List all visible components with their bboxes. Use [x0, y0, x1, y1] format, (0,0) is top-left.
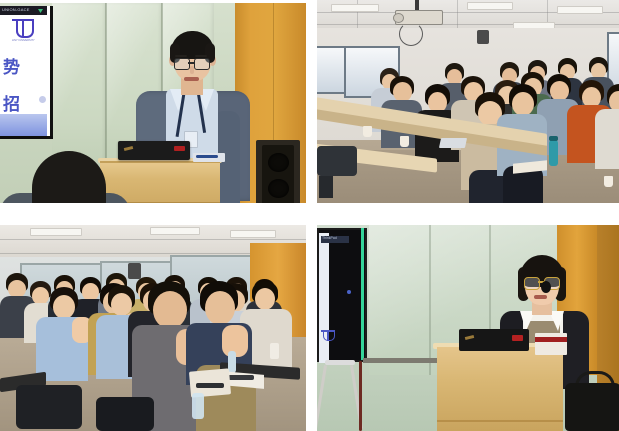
screen-indicator-dot [347, 290, 351, 294]
paper-cup [400, 136, 409, 147]
chair-base [319, 176, 333, 198]
handbag [565, 383, 619, 431]
power-cable [359, 361, 362, 431]
laptop-thinkpad [118, 141, 190, 160]
loudspeaker-driver-top [268, 153, 289, 172]
glasses-lens-right [194, 58, 210, 70]
screen-title-bar: UNION-GACE [0, 6, 47, 15]
pen [196, 155, 218, 158]
scene-top-right [317, 0, 619, 203]
paper-cup [604, 176, 613, 187]
photo-bottom-left [0, 225, 306, 431]
booklet-band [535, 337, 567, 342]
slide-text-line-2: 招 [3, 90, 20, 115]
screen-stand [325, 360, 355, 365]
screen-base [0, 136, 53, 139]
slide-text-line-1: 势 [3, 53, 20, 78]
laptop-logo [174, 146, 185, 151]
university-logo [321, 330, 335, 344]
water-bottle [549, 140, 558, 166]
logo-caption: LINYI UNIVERSITY [12, 39, 34, 42]
paper-cup [270, 343, 279, 359]
audience-group-front [317, 0, 619, 203]
chevron-down-icon [38, 9, 43, 13]
display-screen: ThinkPad [317, 228, 367, 362]
laptop-sticker [465, 335, 474, 340]
loudspeaker-driver-bottom [268, 179, 289, 198]
water-bottle [192, 393, 204, 419]
lectern-base [437, 420, 563, 422]
laptop-sticker [124, 146, 133, 151]
paper-cup [363, 126, 372, 137]
screen-header-text: UNION-GACE [2, 7, 30, 12]
microphone-head [541, 281, 551, 293]
office-chair [96, 397, 154, 431]
slide-footer-band [0, 114, 47, 136]
eyebrow-right [195, 55, 207, 57]
laptop-logo [512, 335, 523, 341]
laptop-thinkpad [459, 329, 529, 351]
scene-bottom-right: ThinkPad [317, 225, 619, 431]
panel-seam [429, 225, 431, 375]
mobile-phone [196, 383, 224, 388]
bottle-cap [549, 136, 558, 141]
laptop-silver [439, 138, 467, 148]
mouth [184, 77, 199, 81]
photo-top-left: UNION-GACE LINYI UNIVERSITY 势 招 [0, 3, 306, 203]
scene-bottom-left [0, 225, 306, 431]
photo-top-right [317, 0, 619, 203]
screen-accent-edge [361, 228, 364, 360]
photo-collage: UNION-GACE LINYI UNIVERSITY 势 招 [0, 0, 619, 431]
photo-bottom-right: ThinkPad [317, 225, 619, 431]
slide-bullet-dot [39, 96, 46, 103]
office-chair [317, 146, 357, 176]
presentation-screen: UNION-GACE LINYI UNIVERSITY 势 招 [0, 6, 53, 139]
mobile-phone [228, 375, 254, 380]
screen-header-text: ThinkPad [322, 236, 337, 240]
scene-top-left: UNION-GACE LINYI UNIVERSITY 势 招 [0, 3, 306, 203]
eyebrow-left [175, 55, 187, 57]
university-logo: LINYI UNIVERSITY [12, 19, 34, 39]
lectern [437, 347, 563, 431]
glasses-lens-left [174, 58, 190, 70]
audience-group-front [0, 225, 306, 431]
mouth [534, 295, 547, 299]
nose [190, 66, 194, 74]
water-bottle [228, 351, 236, 373]
glasses-bridge [188, 62, 194, 64]
office-chair [16, 385, 82, 429]
glasses-lens-left [524, 277, 540, 290]
